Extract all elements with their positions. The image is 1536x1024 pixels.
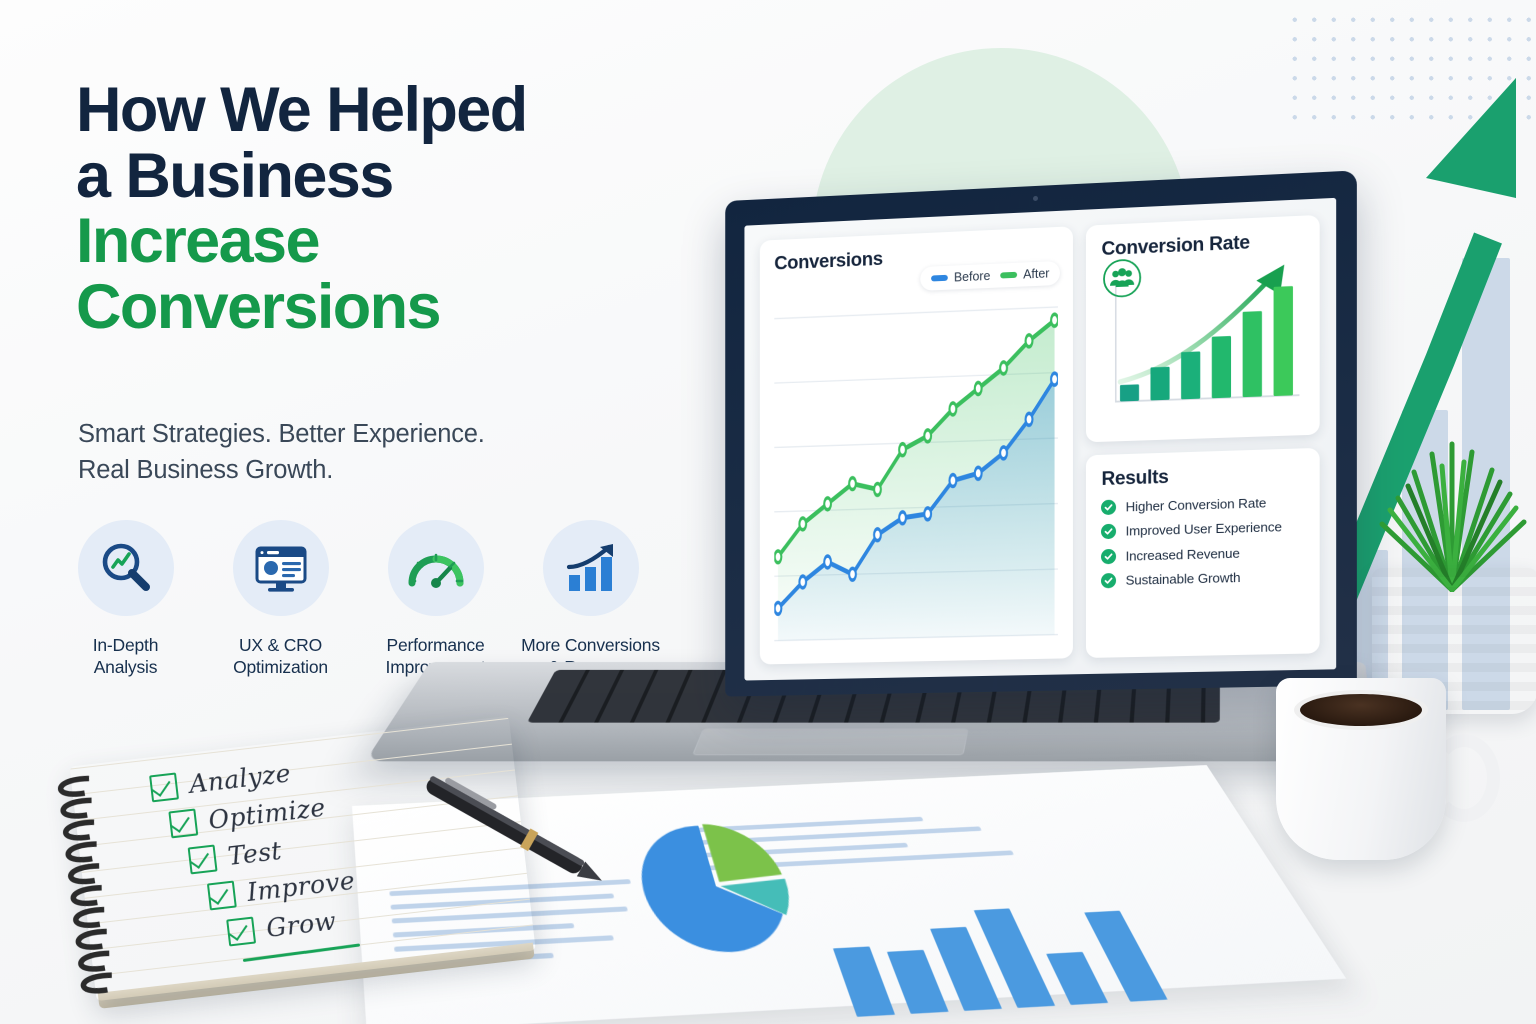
analytics-dashboard: Conversions Before After — [744, 198, 1336, 681]
magnifier-chart-icon — [96, 538, 156, 598]
result-item: Sustainable Growth — [1101, 568, 1304, 588]
dashboard-right-column: Conversion Rate — [1086, 215, 1319, 658]
result-item: Improved User Experience — [1101, 518, 1304, 539]
result-label: Increased Revenue — [1126, 545, 1240, 563]
result-label: Higher Conversion Rate — [1126, 495, 1267, 514]
check-circle-icon — [1101, 573, 1116, 588]
result-label: Improved User Experience — [1126, 519, 1282, 538]
chart-legend: Before After — [920, 261, 1060, 291]
feature-icon-bubble — [233, 520, 329, 616]
coffee-mug — [1268, 668, 1458, 868]
feature-label: In-Depth Analysis — [93, 634, 159, 678]
check-circle-icon — [1101, 524, 1116, 539]
mug-body — [1276, 678, 1446, 860]
people-group-icon — [1102, 257, 1142, 299]
legend-item-after: After — [1000, 266, 1049, 282]
checkbox-checked-icon — [168, 808, 198, 838]
notepad-item-label: Test — [226, 835, 283, 870]
results-list: Higher Conversion RateImproved User Expe… — [1101, 494, 1304, 589]
coffee-liquid — [1300, 694, 1422, 726]
results-card: Results Higher Conversion RateImproved U… — [1086, 447, 1319, 658]
check-circle-icon — [1101, 499, 1116, 515]
result-item: Increased Revenue — [1101, 543, 1304, 563]
trackpad[interactable] — [692, 728, 969, 755]
results-card-title: Results — [1101, 462, 1304, 490]
laptop: Conversions Before After — [430, 186, 1365, 826]
feature-item-ux-cro-optimization: UX & CRO Optimization — [203, 520, 358, 678]
checkbox-checked-icon — [149, 772, 179, 802]
headline-line-1: How We Helped — [76, 78, 676, 144]
check-circle-icon — [1101, 548, 1116, 563]
feature-label: UX & CRO Optimization — [233, 634, 328, 678]
checkbox-checked-icon — [226, 916, 256, 946]
notepad-item-label: Grow — [265, 906, 338, 943]
legend-swatch-after — [1000, 272, 1017, 279]
notepad: AnalyzeOptimizeTestImproveGrow — [42, 716, 539, 1024]
conversion-rate-card: Conversion Rate — [1086, 215, 1319, 442]
feature-icon-bubble — [78, 520, 174, 616]
conversion-rate-card-title: Conversion Rate — [1101, 230, 1304, 261]
report-bar-chart — [813, 875, 1222, 1016]
checkbox-checked-icon — [207, 880, 237, 910]
laptop-lid: Conversions Before After — [725, 170, 1357, 696]
feature-item-in-depth-analysis: In-Depth Analysis — [48, 520, 203, 678]
legend-label-before: Before — [954, 269, 990, 285]
legend-item-before: Before — [931, 269, 990, 285]
pen — [398, 735, 627, 933]
hero-banner: How We Helped a Business Increase Conver… — [0, 0, 1536, 1024]
result-label: Sustainable Growth — [1126, 570, 1241, 588]
conversions-line-chart — [774, 297, 1058, 650]
result-item: Higher Conversion Rate — [1101, 494, 1304, 515]
conversions-card: Conversions Before After — [760, 226, 1074, 664]
monitor-ux-icon — [251, 538, 311, 598]
checkbox-checked-icon — [188, 844, 218, 874]
laptop-screen: Conversions Before After — [744, 198, 1336, 681]
legend-label-after: After — [1023, 266, 1049, 281]
legend-swatch-before — [931, 275, 948, 282]
